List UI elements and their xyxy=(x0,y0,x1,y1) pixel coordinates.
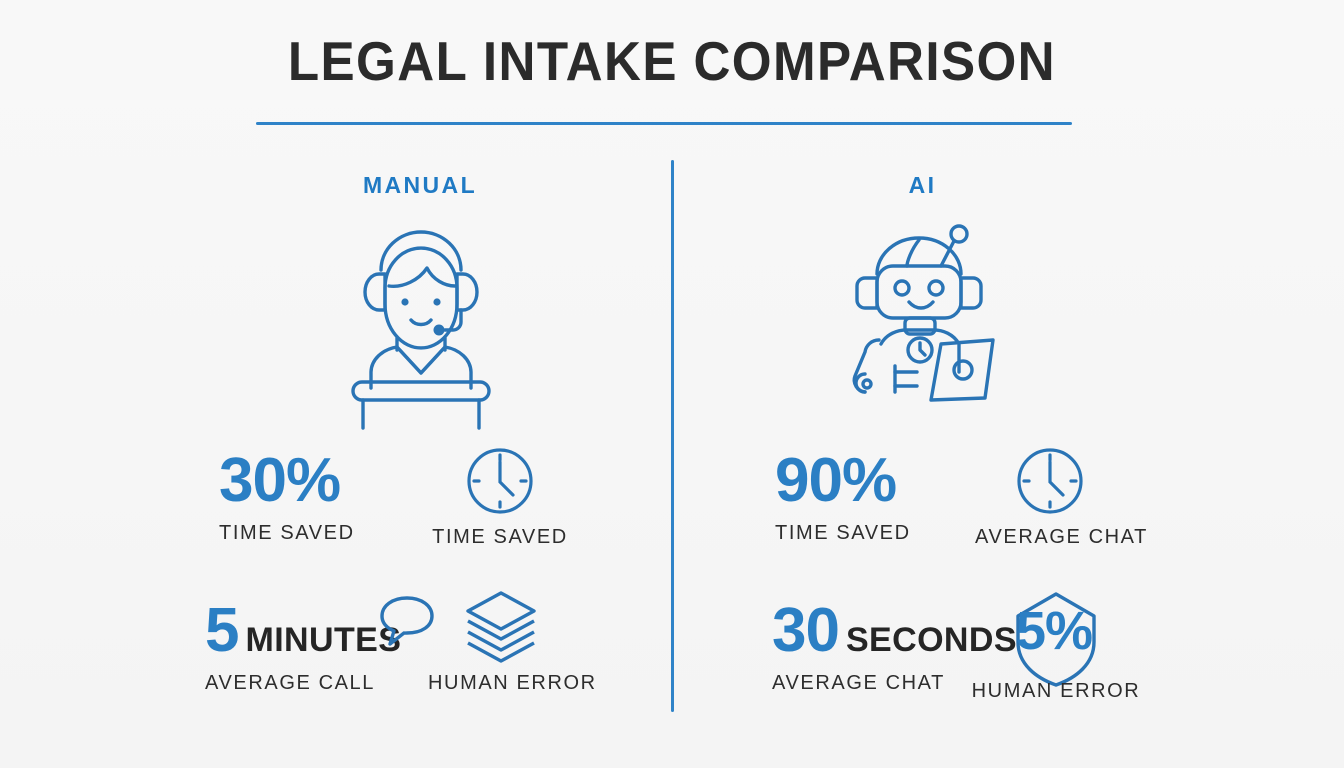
call-center-agent-headset-icon xyxy=(335,226,507,404)
stat-label: TIME SAVED xyxy=(219,522,355,545)
stat-label: AVERAGE CALL xyxy=(205,672,401,695)
icon-block-manual-human-error: HUMAN ERROR xyxy=(428,588,574,695)
stat-ai-time-saved: 90% TIME SAVED xyxy=(775,450,911,545)
infographic-canvas: LEGAL INTAKE COMPARISON MANUAL xyxy=(0,0,1344,768)
layers-stack-icon xyxy=(462,588,540,664)
stat-manual-time-saved: 30% TIME SAVED xyxy=(219,450,355,545)
stat-number-value: 5 xyxy=(205,596,238,665)
icon-label: HUMAN ERROR xyxy=(428,672,574,695)
icon-block-ai-clock: AVERAGE CHAT xyxy=(975,444,1125,549)
clock-icon xyxy=(1013,444,1087,518)
stat-number-unit: SECONDS xyxy=(846,621,1017,659)
stat-manual-average-call: 5MINUTES AVERAGE CALL xyxy=(205,600,401,695)
icon-label: AVERAGE CHAT xyxy=(975,526,1125,549)
page-title-wrap: LEGAL INTAKE COMPARISON xyxy=(0,34,1344,89)
stat-number: 5MINUTES xyxy=(205,600,401,662)
icon-label-ai-human-error: HUMAN ERROR xyxy=(968,680,1144,703)
clock-icon xyxy=(463,444,537,518)
stat-ai-human-error: 5% xyxy=(1008,586,1104,690)
icon-block-manual-clock: TIME SAVED xyxy=(432,444,568,549)
stat-number: 30% xyxy=(219,450,355,512)
stat-label: TIME SAVED xyxy=(775,522,911,545)
stat-number: 30SECONDS xyxy=(772,600,1017,662)
stat-number-value: 30 xyxy=(772,596,839,665)
page-title: LEGAL INTAKE COMPARISON xyxy=(288,34,1056,89)
robot-with-tablet-icon xyxy=(833,222,1015,404)
column-heading-manual: MANUAL xyxy=(250,172,590,199)
column-divider xyxy=(671,160,674,712)
column-heading-ai: AI xyxy=(760,172,1085,199)
stat-number: 5% xyxy=(1016,604,1092,658)
stat-number: 90% xyxy=(775,450,911,512)
title-underline-rule xyxy=(256,122,1072,125)
icon-label: TIME SAVED xyxy=(432,526,568,549)
